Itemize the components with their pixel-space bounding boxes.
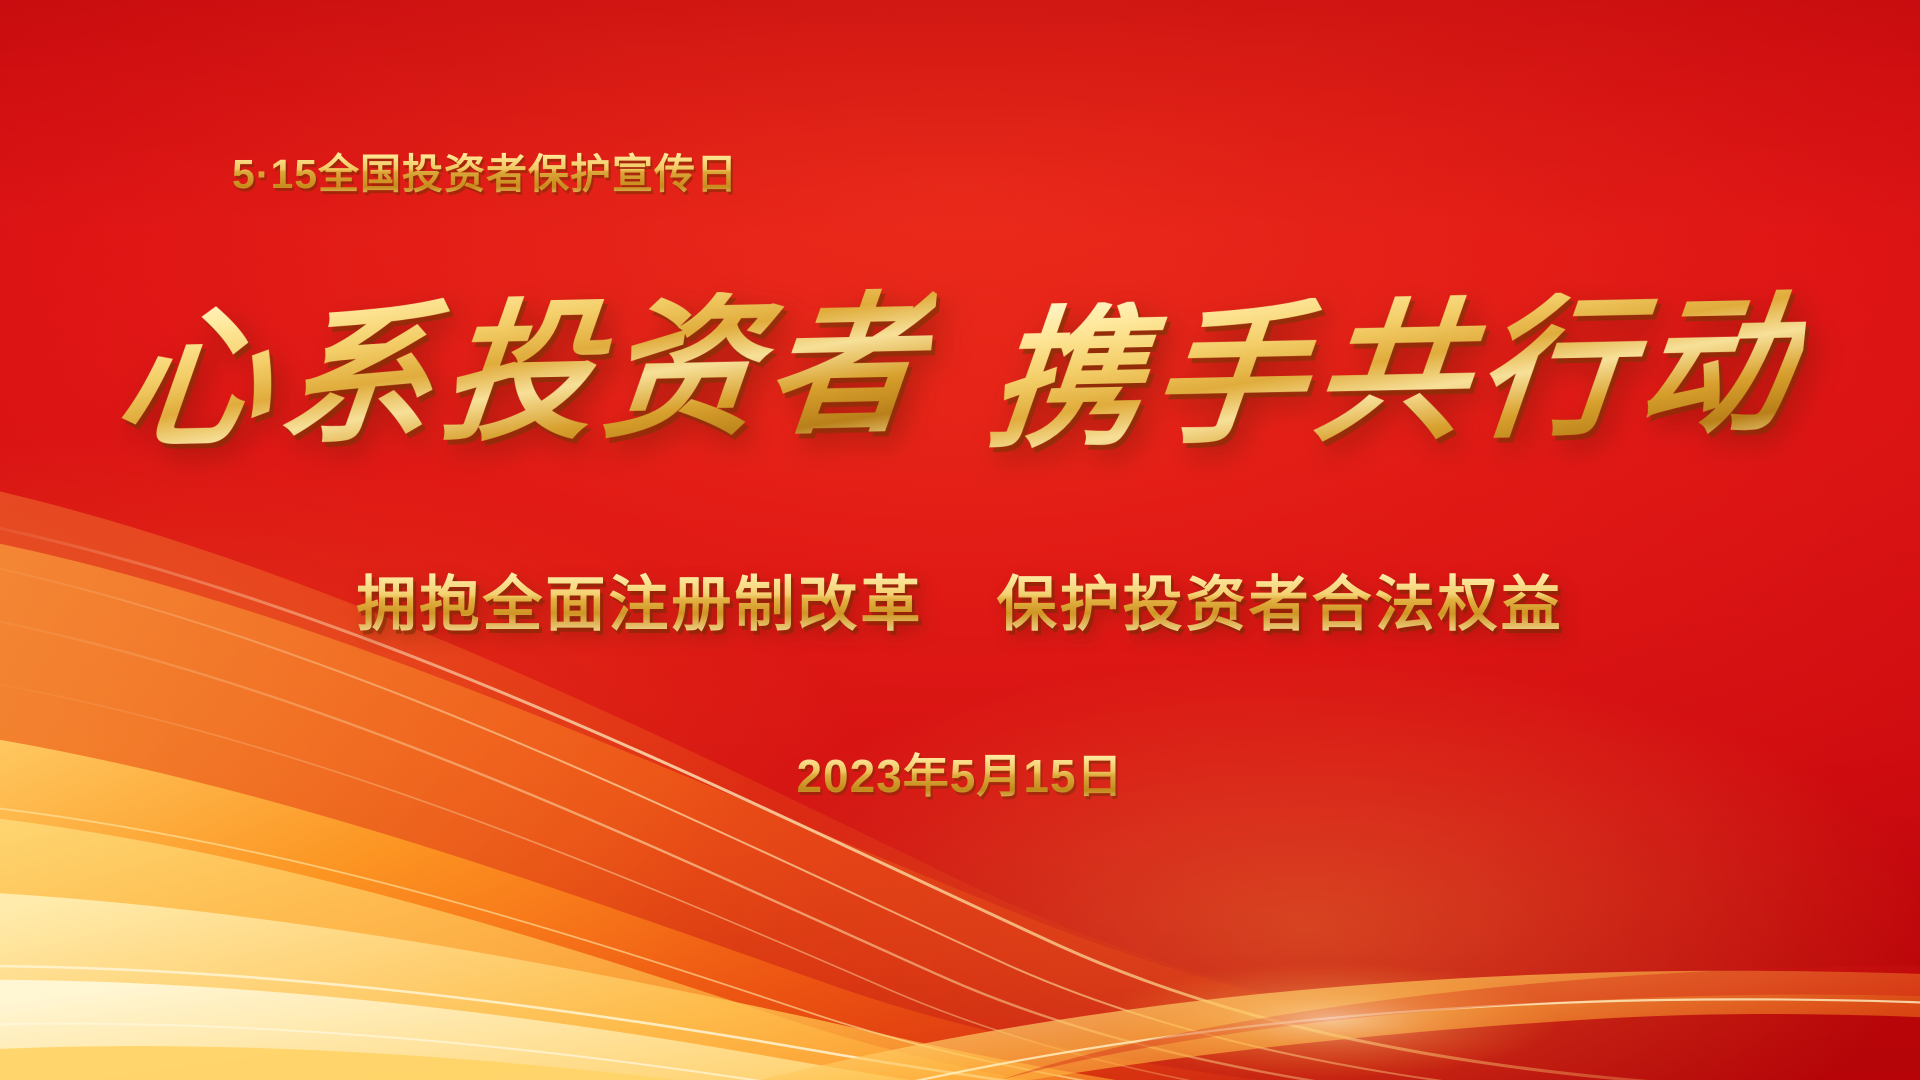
main-title-part1: 心系投资者 (110, 288, 937, 457)
poster-canvas: 5·15全国投资者保护宣传日 心系投资者 携手共行动 拥抱全面注册制改革 保护投… (0, 0, 1920, 1080)
subtitle-part1: 拥抱全面注册制改革 (356, 571, 923, 638)
main-title-part2: 携手共行动 (983, 288, 1810, 457)
event-date: 2023年5月15日 (0, 740, 1920, 806)
poster-content: 5·15全国投资者保护宣传日 心系投资者 携手共行动 拥抱全面注册制改革 保护投… (0, 0, 1920, 1080)
subtitle: 拥抱全面注册制改革 保护投资者合法权益 (0, 556, 1920, 643)
subtitle-part2: 保护投资者合法权益 (997, 571, 1564, 638)
campaign-eyebrow: 5·15全国投资者保护宣传日 (232, 140, 738, 200)
main-title: 心系投资者 携手共行动 (0, 296, 1920, 448)
